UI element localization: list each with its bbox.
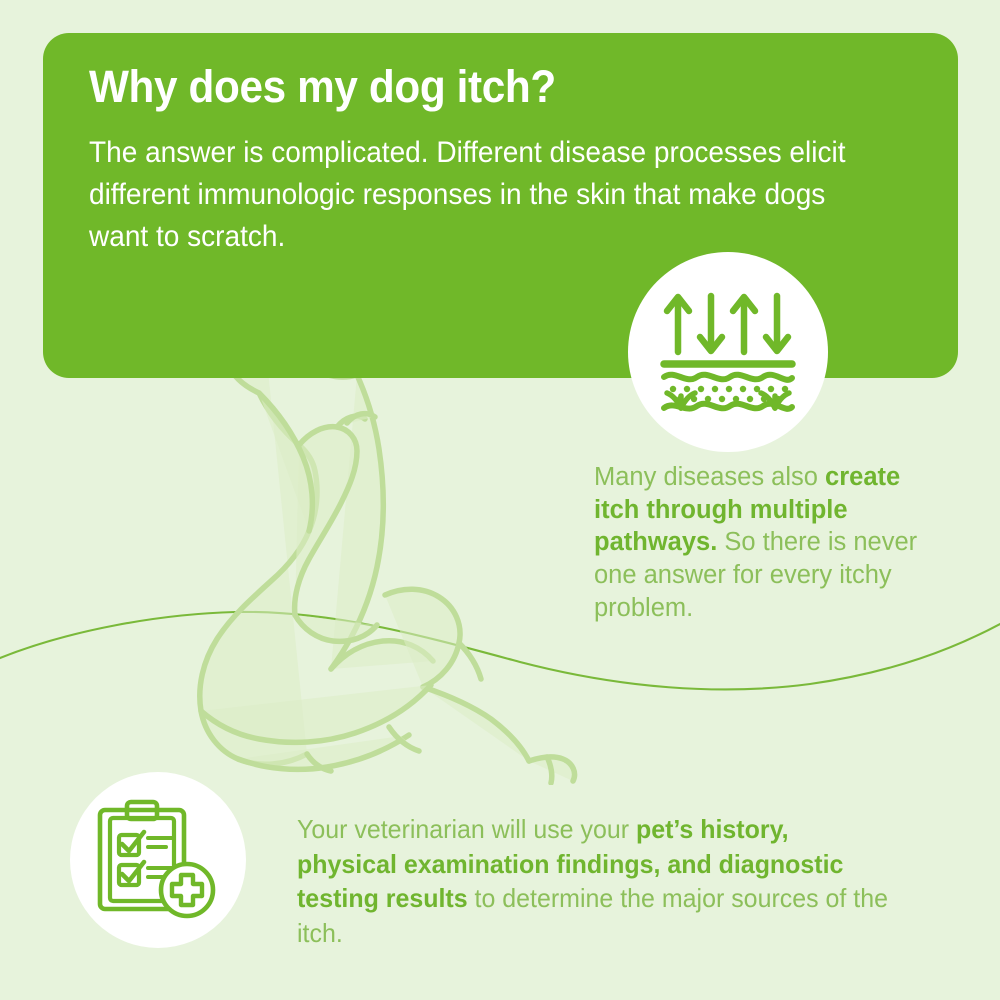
callout-bottom-text: Your veterinarian will use your pet’s hi… [297,812,892,950]
page-title: Why does my dog itch? [89,63,863,110]
infographic-canvas: Why does my dog itch? The answer is comp… [0,0,1000,1000]
header-body-text: The answer is complicated. Different dis… [89,132,871,258]
clipboard-checklist-medical-icon [96,799,220,921]
callout-middle-part-0: Many diseases also [594,463,825,491]
clipboard-icon-circle [70,772,246,948]
skin-icon-circle [628,252,828,452]
callout-middle-text: Many diseases also create itch through m… [594,461,924,624]
callout-bottom-part-0: Your veterinarian will use your [297,814,636,844]
skin-barrier-arrows-icon [659,288,797,416]
